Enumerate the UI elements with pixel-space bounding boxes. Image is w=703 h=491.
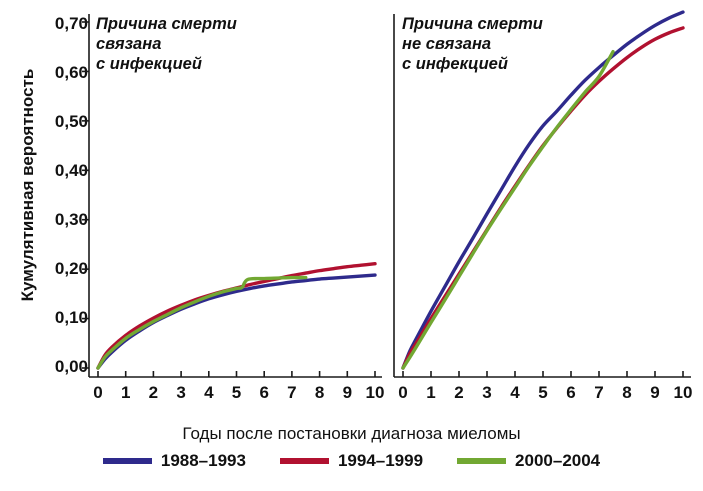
x-axis-label: Годы после постановки диагноза миеломы xyxy=(0,424,703,444)
x-tick-7: 7 xyxy=(594,384,603,401)
x-tick-6: 6 xyxy=(259,384,268,401)
x-tick-0: 0 xyxy=(398,384,407,401)
x-tick-9: 9 xyxy=(343,384,352,401)
legend-item-1988-1993[interactable]: 1988–1993 xyxy=(103,452,246,469)
x-tick-5: 5 xyxy=(538,384,547,401)
legend-swatch-icon-2 xyxy=(280,458,329,464)
series-curves xyxy=(98,12,683,368)
x-tick-1: 1 xyxy=(426,384,435,401)
legend-label-1: 1988–1993 xyxy=(161,452,246,469)
x-tick-7: 7 xyxy=(287,384,296,401)
x-tick-6: 6 xyxy=(566,384,575,401)
legend-item-2000-2004[interactable]: 2000–2004 xyxy=(457,452,600,469)
curve-2000-2004 xyxy=(98,278,306,368)
x-tick-10: 10 xyxy=(674,384,693,401)
x-tick-5: 5 xyxy=(232,384,241,401)
x-tick-2: 2 xyxy=(149,384,158,401)
x-tick-2: 2 xyxy=(454,384,463,401)
x-tick-1: 1 xyxy=(121,384,130,401)
x-tick-4: 4 xyxy=(204,384,213,401)
legend-swatch-icon-3 xyxy=(457,458,506,464)
curve-1994-1999 xyxy=(403,28,683,368)
x-tick-9: 9 xyxy=(650,384,659,401)
legend-item-1994-1999[interactable]: 1994–1999 xyxy=(280,452,423,469)
x-tick-8: 8 xyxy=(622,384,631,401)
x-tick-0: 0 xyxy=(93,384,102,401)
x-tick-3: 3 xyxy=(482,384,491,401)
legend-label-2: 1994–1999 xyxy=(338,452,423,469)
curve-1988-1993 xyxy=(403,12,683,368)
legend-swatch-icon-1 xyxy=(103,458,152,464)
legend-label-3: 2000–2004 xyxy=(515,452,600,469)
legend: 1988–1993 1994–1999 2000–2004 xyxy=(0,452,703,469)
x-tick-10: 10 xyxy=(366,384,385,401)
figure-root: Кумулятивная вероятность 0,70 0,60 0,50 … xyxy=(0,0,703,491)
x-tick-8: 8 xyxy=(315,384,324,401)
plot-canvas xyxy=(0,0,703,420)
x-tick-4: 4 xyxy=(510,384,519,401)
x-tick-3: 3 xyxy=(176,384,185,401)
